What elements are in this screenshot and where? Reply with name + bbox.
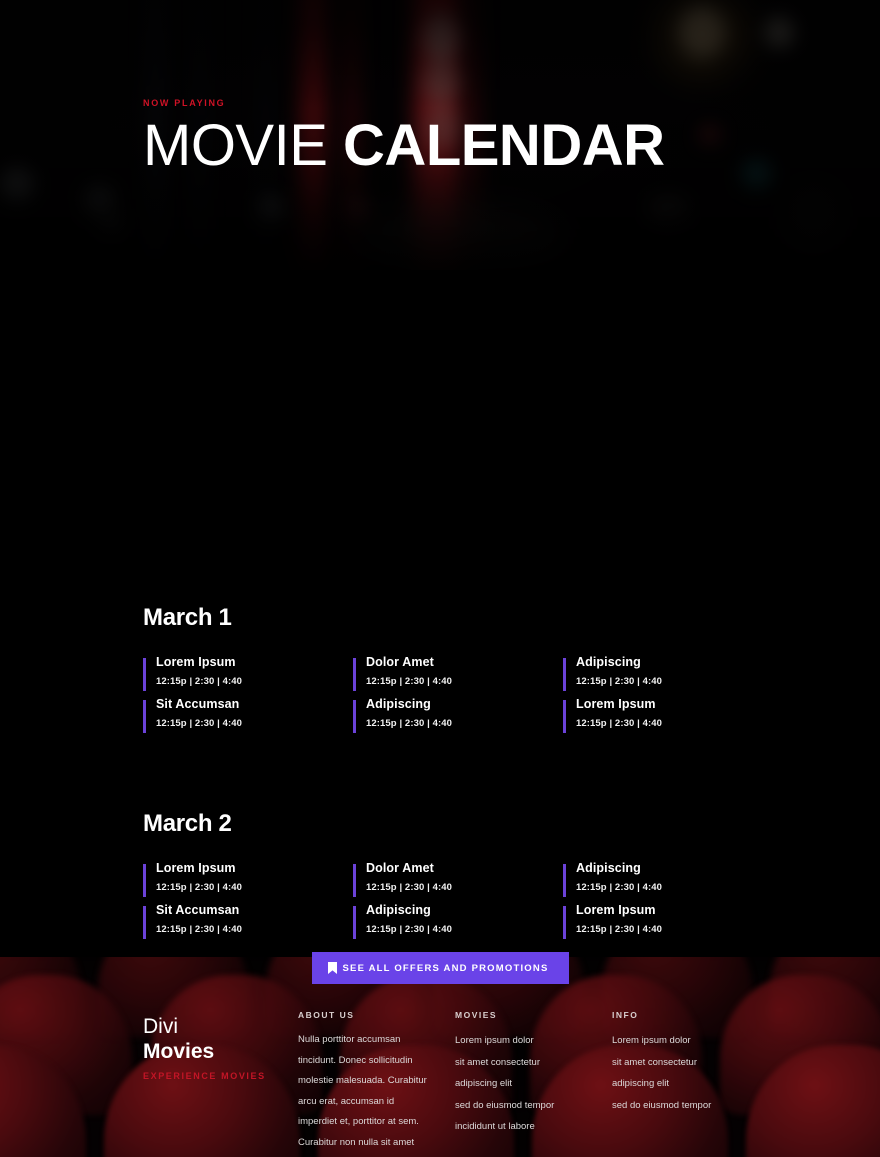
showing-title: Lorem Ipsum (156, 862, 353, 876)
showing-title: Sit Accumsan (156, 904, 353, 918)
footer-column-info: Info Lorem ipsum dolorsit amet consectet… (612, 1010, 762, 1116)
footer-heading-info: Info (612, 1010, 762, 1020)
footer-link[interactable]: Lorem ipsum dolor (455, 1030, 595, 1052)
footer-info-links: Lorem ipsum dolorsit amet consecteturadi… (612, 1030, 762, 1116)
footer-link[interactable]: sit amet consectetur (455, 1052, 595, 1074)
footer-link[interactable]: incididunt ut labore (455, 1116, 595, 1138)
page-title-thin: MOVIE (143, 113, 327, 178)
showing-item[interactable]: Dolor Amet12:15p | 2:30 | 4:40 (353, 656, 563, 698)
showing-item[interactable]: Adipiscing12:15p | 2:30 | 4:40 (563, 862, 783, 904)
schedule-day: March 2Lorem Ipsum12:15p | 2:30 | 4:40Do… (0, 810, 880, 946)
showings-grid: Lorem Ipsum12:15p | 2:30 | 4:40Dolor Ame… (143, 656, 880, 740)
showings-grid: Lorem Ipsum12:15p | 2:30 | 4:40Dolor Ame… (143, 862, 880, 946)
page-title: MOVIE CALENDAR (143, 116, 664, 175)
showing-times: 12:15p | 2:30 | 4:40 (576, 718, 783, 729)
brand-line-2: Movies (143, 1039, 293, 1064)
footer-link[interactable]: Lorem ipsum dolor (612, 1030, 762, 1052)
ticket-icon (328, 962, 337, 974)
showing-item[interactable]: Sit Accumsan12:15p | 2:30 | 4:40 (143, 904, 353, 946)
footer-about-text: Nulla porttitor accumsan tincidunt. Done… (298, 1030, 430, 1157)
see-all-offers-label: See All Offers and Promotions (343, 963, 549, 974)
site-footer: Divi Movies Experience Movies About Us N… (0, 957, 880, 1157)
showing-item[interactable]: Adipiscing12:15p | 2:30 | 4:40 (353, 904, 563, 946)
hero-eyebrow: NOW PLAYING (143, 98, 664, 108)
footer-link[interactable]: adipiscing elit (612, 1073, 762, 1095)
showing-times: 12:15p | 2:30 | 4:40 (156, 676, 353, 687)
brand-tagline: Experience Movies (143, 1071, 293, 1081)
hero-section: NOW PLAYING MOVIE CALENDAR (0, 0, 880, 270)
showing-times: 12:15p | 2:30 | 4:40 (576, 924, 783, 935)
showing-times: 12:15p | 2:30 | 4:40 (366, 718, 563, 729)
footer-heading-movies: Movies (455, 1010, 595, 1020)
showing-times: 12:15p | 2:30 | 4:40 (366, 882, 563, 893)
showing-title: Lorem Ipsum (576, 904, 783, 918)
showing-item[interactable]: Lorem Ipsum12:15p | 2:30 | 4:40 (563, 904, 783, 946)
showing-item[interactable]: Lorem Ipsum12:15p | 2:30 | 4:40 (143, 862, 353, 904)
showing-times: 12:15p | 2:30 | 4:40 (576, 676, 783, 687)
showing-times: 12:15p | 2:30 | 4:40 (156, 718, 353, 729)
showing-title: Adipiscing (576, 656, 783, 670)
showing-item[interactable]: Adipiscing12:15p | 2:30 | 4:40 (353, 698, 563, 740)
showing-times: 12:15p | 2:30 | 4:40 (576, 882, 783, 893)
showing-title: Dolor Amet (366, 656, 563, 670)
footer-column-movies: Movies Lorem ipsum dolorsit amet consect… (455, 1010, 595, 1138)
showing-title: Sit Accumsan (156, 698, 353, 712)
showing-item[interactable]: Lorem Ipsum12:15p | 2:30 | 4:40 (143, 656, 353, 698)
showing-title: Dolor Amet (366, 862, 563, 876)
showing-times: 12:15p | 2:30 | 4:40 (366, 676, 563, 687)
showing-item[interactable]: Adipiscing12:15p | 2:30 | 4:40 (563, 656, 783, 698)
movie-calendar-page: NOW PLAYING MOVIE CALENDAR March 1Lorem … (0, 0, 880, 1157)
footer-movies-links: Lorem ipsum dolorsit amet consecteturadi… (455, 1030, 595, 1138)
showing-times: 12:15p | 2:30 | 4:40 (156, 924, 353, 935)
showing-title: Adipiscing (366, 698, 563, 712)
brand-line-1: Divi (143, 1015, 293, 1039)
showing-times: 12:15p | 2:30 | 4:40 (366, 924, 563, 935)
footer-link[interactable]: sit amet consectetur (612, 1052, 762, 1074)
showing-title: Adipiscing (576, 862, 783, 876)
footer-brand: Divi Movies Experience Movies (143, 1015, 293, 1081)
showing-title: Lorem Ipsum (576, 698, 783, 712)
schedule-day-title: March 1 (143, 604, 880, 632)
showing-title: Adipiscing (366, 904, 563, 918)
showing-times: 12:15p | 2:30 | 4:40 (156, 882, 353, 893)
footer-link[interactable]: sed do eiusmod tempor (455, 1095, 595, 1117)
schedule-day: March 1Lorem Ipsum12:15p | 2:30 | 4:40Do… (0, 604, 880, 740)
footer-column-about-us: About Us Nulla porttitor accumsan tincid… (298, 1010, 430, 1157)
footer-link[interactable]: adipiscing elit (455, 1073, 595, 1095)
schedule-day-title: March 2 (143, 810, 880, 838)
showing-item[interactable]: Dolor Amet12:15p | 2:30 | 4:40 (353, 862, 563, 904)
see-all-offers-button[interactable]: See All Offers and Promotions (312, 952, 569, 984)
showing-item[interactable]: Sit Accumsan12:15p | 2:30 | 4:40 (143, 698, 353, 740)
footer-link[interactable]: sed do eiusmod tempor (612, 1095, 762, 1117)
footer-heading-about-us: About Us (298, 1010, 430, 1020)
showing-title: Lorem Ipsum (156, 656, 353, 670)
showing-item[interactable]: Lorem Ipsum12:15p | 2:30 | 4:40 (563, 698, 783, 740)
page-title-bold: CALENDAR (343, 113, 664, 178)
cta-container: See All Offers and Promotions (0, 952, 880, 984)
